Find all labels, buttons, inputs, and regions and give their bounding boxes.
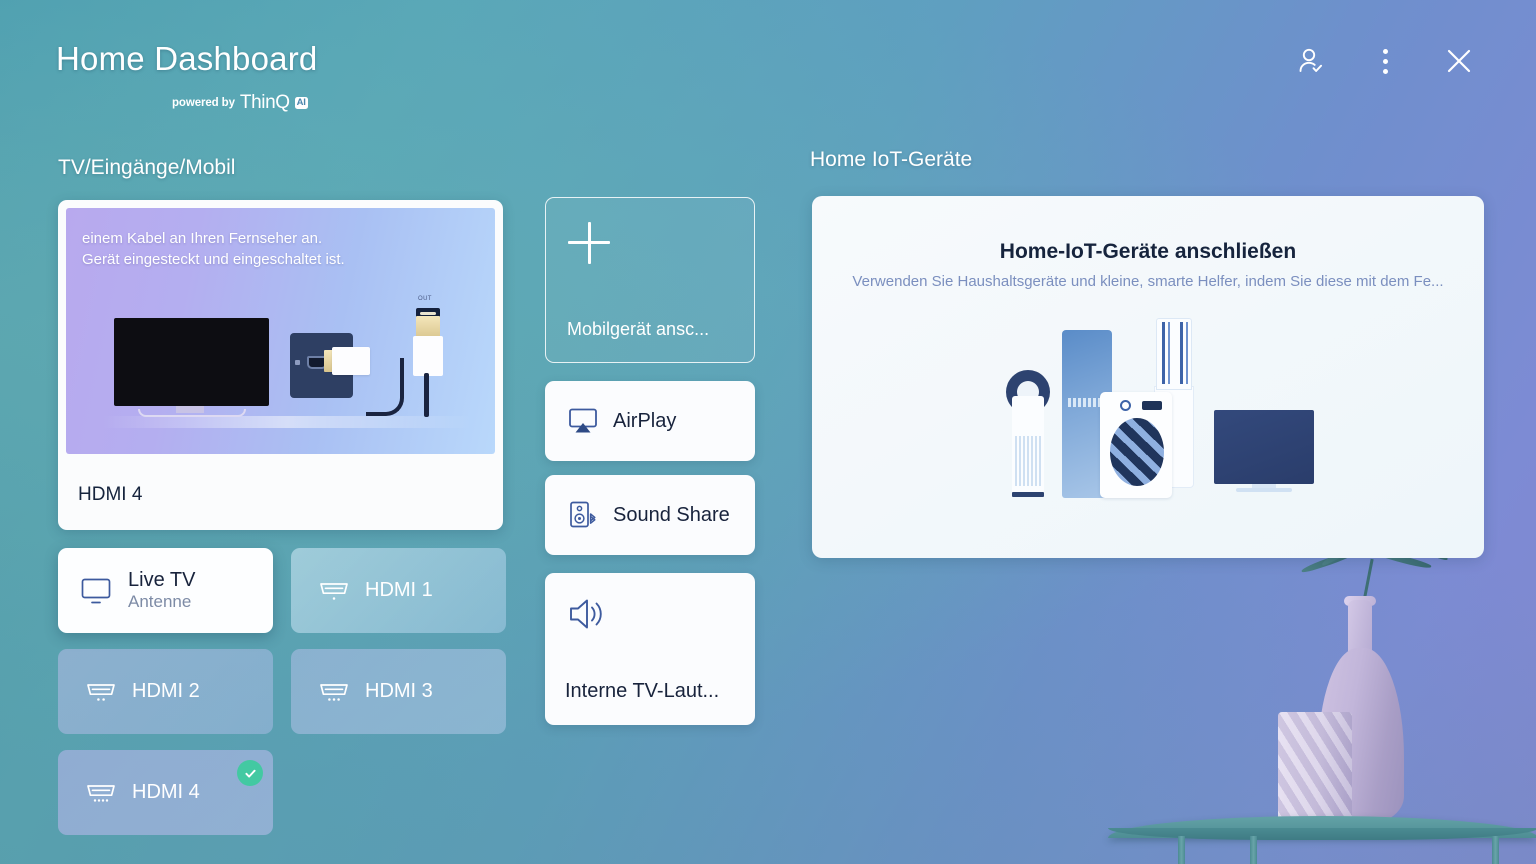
thinq-logo-text: ThinQ (240, 92, 290, 114)
account-button[interactable] (1290, 40, 1332, 82)
illustration-plate-dot (295, 360, 300, 365)
illustration-washer-drum (1110, 418, 1164, 486)
home-appliances-illustration (990, 308, 1320, 524)
add-mobile-device-card[interactable]: Mobilgerät ansc... (545, 197, 755, 363)
input-label: HDMI 4 (132, 781, 200, 804)
hdmi-port-icon (317, 679, 351, 705)
hdmi-port-icon (84, 679, 118, 705)
input-button-hdmi-4[interactable]: HDMI 4 (58, 750, 273, 835)
sound-share-label: Sound Share (613, 504, 730, 527)
thinq-branding: powered by ThinQ AI (172, 92, 308, 114)
illustration-hdmi-plug-body-2 (413, 336, 443, 376)
input-label: Live TV (128, 569, 195, 591)
more-vertical-icon (1383, 49, 1388, 74)
illustration-out-label: OUT (418, 296, 432, 302)
input-row: Live TV Antenne HDMI 1 (58, 548, 508, 633)
input-source-grid: Live TV Antenne HDMI 1 (58, 548, 508, 851)
illustration-air-purifier-grille (1015, 436, 1041, 486)
plus-icon (568, 222, 610, 264)
illustration-cable-1 (366, 358, 404, 416)
input-sublabel: Antenne (128, 592, 195, 612)
preview-illustration: einem Kabel an Ihren Fernseher an. Gerät… (66, 208, 495, 454)
mobile-connect-column: Mobilgerät ansc... AirPlay S (545, 197, 755, 725)
home-dashboard-overlay: Home Dashboard powered by ThinQ AI TV/Ei… (0, 0, 1536, 864)
preview-caption-line2: Gerät eingesteckt und eingeschaltet ist. (82, 249, 345, 270)
powered-by-label: powered by (172, 97, 235, 109)
preview-label: HDMI 4 (78, 484, 142, 506)
illustration-ac-line (1186, 322, 1188, 384)
status-badge-selected (237, 760, 263, 786)
illustration-cable-2 (424, 373, 429, 417)
sound-share-row: Sound Share (545, 475, 755, 555)
input-preview-card[interactable]: einem Kabel an Ihren Fernseher an. Gerät… (58, 200, 503, 530)
iot-connect-card[interactable]: Home-IoT-Geräte anschließen Verwenden Si… (812, 196, 1484, 558)
add-mobile-device-label: Mobilgerät ansc... (567, 319, 709, 340)
ai-badge: AI (295, 97, 308, 109)
iot-section-title: Home IoT-Gerätе (810, 148, 972, 172)
speaker-volume-icon (567, 595, 609, 633)
user-check-icon (1296, 46, 1326, 76)
more-options-button[interactable] (1364, 40, 1406, 82)
illustration-air-purifier-base (1012, 492, 1044, 497)
input-label: HDMI 2 (132, 680, 200, 703)
airplay-label: AirPlay (613, 410, 676, 433)
sound-share-card[interactable]: Sound Share (545, 475, 755, 555)
internal-tv-speaker-card[interactable]: Interne TV-Laut... (545, 573, 755, 725)
preview-caption: einem Kabel an Ihren Fernseher an. Gerät… (82, 228, 345, 271)
input-button-hdmi-1[interactable]: HDMI 1 (291, 548, 506, 633)
hdmi-port-icon (84, 780, 118, 806)
illustration-tv-stand (138, 409, 246, 417)
close-icon (1444, 46, 1474, 76)
illustration-ac-line (1180, 322, 1183, 384)
illustration-ac-line (1162, 322, 1165, 384)
input-label: HDMI 3 (365, 680, 433, 703)
input-row: HDMI 2 HDMI 3 (58, 649, 508, 734)
airplay-row: AirPlay (545, 381, 755, 461)
airplay-icon (567, 407, 599, 435)
internal-tv-speaker-label: Interne TV-Laut... (565, 680, 719, 703)
preview-caption-line1: einem Kabel an Ihren Fernseher an. (82, 228, 345, 249)
header-actions (1290, 40, 1480, 82)
illustration-washer-display (1142, 401, 1162, 410)
illustration-tv-screen (114, 318, 269, 406)
iot-card-title: Home-IoT-Geräte anschließen (812, 240, 1484, 264)
page-title: Home Dashboard (56, 40, 317, 78)
illustration-hdmi-plug-body (332, 347, 370, 375)
illustration-washer-knob (1120, 400, 1131, 411)
input-row: HDMI 4 (58, 750, 508, 835)
close-button[interactable] (1438, 40, 1480, 82)
illustration-ac-line (1168, 322, 1170, 384)
check-icon (243, 766, 258, 781)
input-label: HDMI 1 (365, 579, 433, 602)
airplay-card[interactable]: AirPlay (545, 381, 755, 461)
inputs-section-title: TV/Eingänge/Mobil (58, 156, 235, 180)
illustration-floor-shadow (102, 416, 472, 428)
speaker-bluetooth-icon (567, 499, 599, 531)
illustration-tv-base (1236, 488, 1292, 492)
live-tv-labels: Live TV Antenne (128, 569, 195, 612)
illustration-television (1214, 410, 1314, 484)
speaker-volume-icon-wrap (567, 595, 609, 638)
input-button-hdmi-2[interactable]: HDMI 2 (58, 649, 273, 734)
input-button-hdmi-3[interactable]: HDMI 3 (291, 649, 506, 734)
tv-monitor-icon (80, 576, 112, 606)
iot-card-description: Verwenden Sie Haushaltsgeräte und kleine… (812, 273, 1484, 290)
input-button-live-tv[interactable]: Live TV Antenne (58, 548, 273, 633)
hdmi-port-icon (317, 578, 351, 604)
